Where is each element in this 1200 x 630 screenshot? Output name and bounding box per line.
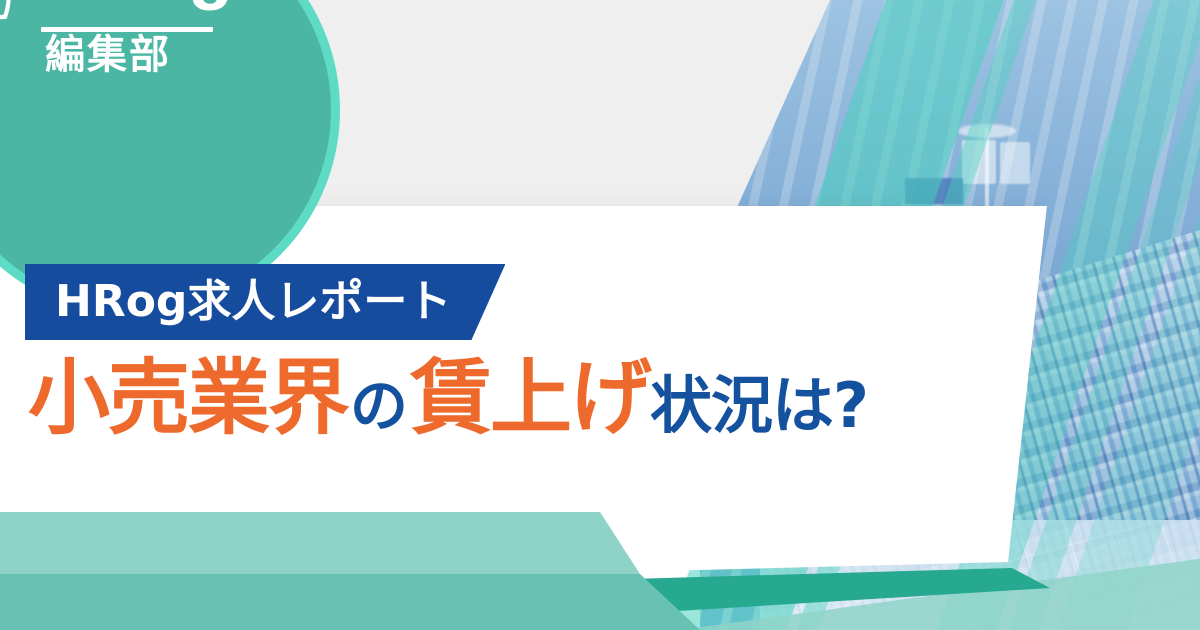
logo-wordmark: HRog [39, 0, 232, 7]
headline-segment-3: 賃上げ [410, 360, 650, 439]
logo-contents: フロッグ HRog 編集部 [0, 0, 255, 101]
headline-segment-4: 状況は? [650, 375, 868, 439]
headline: 小売業界 の 賃上げ 状況は? [28, 360, 868, 439]
ribbon-label: HRog求人レポート [55, 280, 451, 324]
frog-mascot-icon [0, 0, 33, 27]
wall-sign-left [962, 140, 996, 184]
wall-sign-right [1000, 142, 1030, 184]
thumbnail-canvas: フロッグ HRog 編集部 HRog求人レポート 小売業界 の 賃上げ 状況は? [0, 0, 1200, 630]
report-ribbon: HRog求人レポート [25, 264, 505, 340]
headline-segment-1: 小売業界 [28, 360, 348, 439]
logo-subtitle: 編集部 [45, 35, 171, 75]
headline-segment-2: の [348, 377, 410, 439]
aisle-sign [905, 178, 963, 204]
